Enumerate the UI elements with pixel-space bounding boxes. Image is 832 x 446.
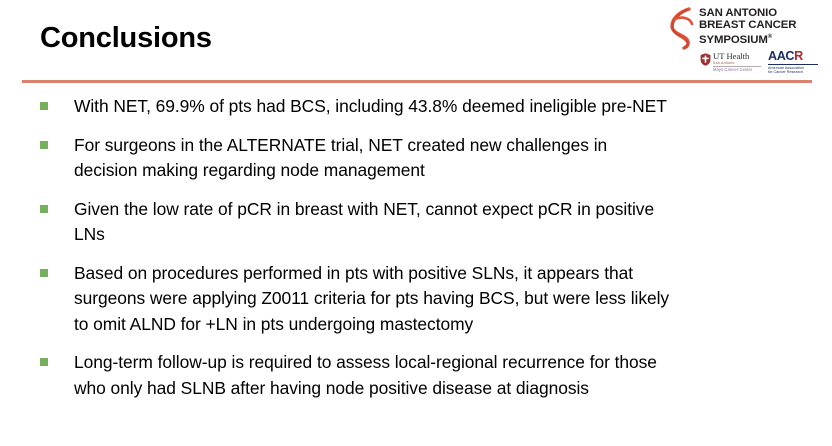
ut-health-text: UT Health San Antonio Mays Cancer Center [713, 52, 763, 72]
ut-health-logo: UT Health San Antonio Mays Cancer Center [700, 52, 762, 76]
bullet-text: For surgeons in the ALTERNATE trial, NET… [74, 133, 796, 184]
sabcs-logo: SAN ANTONIO BREAST CANCER SYMPOSIUM® [666, 6, 826, 50]
bullet-line: LNs [74, 222, 796, 248]
ut-health-center: Mays Cancer Center [713, 67, 763, 72]
bullet-square-icon [40, 102, 48, 110]
ut-health-location: San Antonio [713, 61, 763, 65]
aacr-subtitle-line-2: for Cancer Research [768, 70, 826, 75]
bullet-line: Long-term follow-up is required to asses… [74, 350, 796, 376]
list-item: Given the low rate of pCR in breast with… [0, 197, 832, 248]
bullet-line: surgeons were applying Z0011 criteria fo… [74, 286, 796, 312]
bullet-square-icon [40, 358, 48, 366]
sabcs-wordmark-line-3-text: SYMPOSIUM [699, 33, 768, 45]
conference-logo-block: SAN ANTONIO BREAST CANCER SYMPOSIUM® [666, 4, 828, 78]
bullet-line: Based on procedures performed in pts wit… [74, 261, 796, 287]
partner-logos: UT Health San Antonio Mays Cancer Center… [700, 50, 828, 78]
bullet-line: Given the low rate of pCR in breast with… [74, 197, 796, 223]
sabcs-wordmark-line-2: BREAST CANCER [699, 20, 823, 32]
bullet-square-icon [40, 205, 48, 213]
bullet-square-icon [40, 269, 48, 277]
bullet-text: With NET, 69.9% of pts had BCS, includin… [74, 94, 796, 120]
bullet-line: who only had SLNB after having node posi… [74, 376, 796, 402]
list-item: For surgeons in the ALTERNATE trial, NET… [0, 133, 832, 184]
sabcs-trademark-symbol: ® [768, 34, 772, 40]
aacr-divider [768, 64, 818, 65]
aacr-wordmark: AACR [768, 50, 826, 63]
bullet-line: With NET, 69.9% of pts had BCS, includin… [74, 94, 796, 120]
list-item: Based on procedures performed in pts wit… [0, 261, 832, 338]
bullet-text: Based on procedures performed in pts wit… [74, 261, 796, 338]
bullet-text: Given the low rate of pCR in breast with… [74, 197, 796, 248]
slide-body: With NET, 69.9% of pts had BCS, includin… [0, 94, 832, 414]
page-title: Conclusions [40, 23, 212, 55]
bullet-line: For surgeons in the ALTERNATE trial, NET… [74, 133, 796, 159]
presentation-slide: Conclusions SAN ANTONIO BREAST CANCER SY… [0, 0, 832, 446]
ut-health-name: UT Health [713, 52, 763, 61]
bullet-line: to omit ALND for +LN in pts undergoing m… [74, 312, 796, 338]
bullet-square-icon [40, 141, 48, 149]
sabcs-wordmark-line-3: SYMPOSIUM® [699, 32, 823, 47]
bullet-text: Long-term follow-up is required to asses… [74, 350, 796, 401]
aacr-logo: AACR American Association for Cancer Res… [768, 50, 826, 76]
aacr-wordmark-main: AAC [768, 49, 794, 63]
list-item: With NET, 69.9% of pts had BCS, includin… [0, 94, 832, 120]
bullet-line: decision making regarding node managemen… [74, 158, 796, 184]
title-divider-rule [22, 80, 812, 83]
sabcs-ribbon-8-mark [666, 6, 698, 50]
ut-health-shield-icon [700, 53, 711, 66]
aacr-wordmark-accent: R [794, 49, 803, 63]
sabcs-wordmark: SAN ANTONIO BREAST CANCER SYMPOSIUM® [699, 8, 823, 46]
slide-header: Conclusions SAN ANTONIO BREAST CANCER SY… [0, 0, 832, 86]
list-item: Long-term follow-up is required to asses… [0, 350, 832, 401]
